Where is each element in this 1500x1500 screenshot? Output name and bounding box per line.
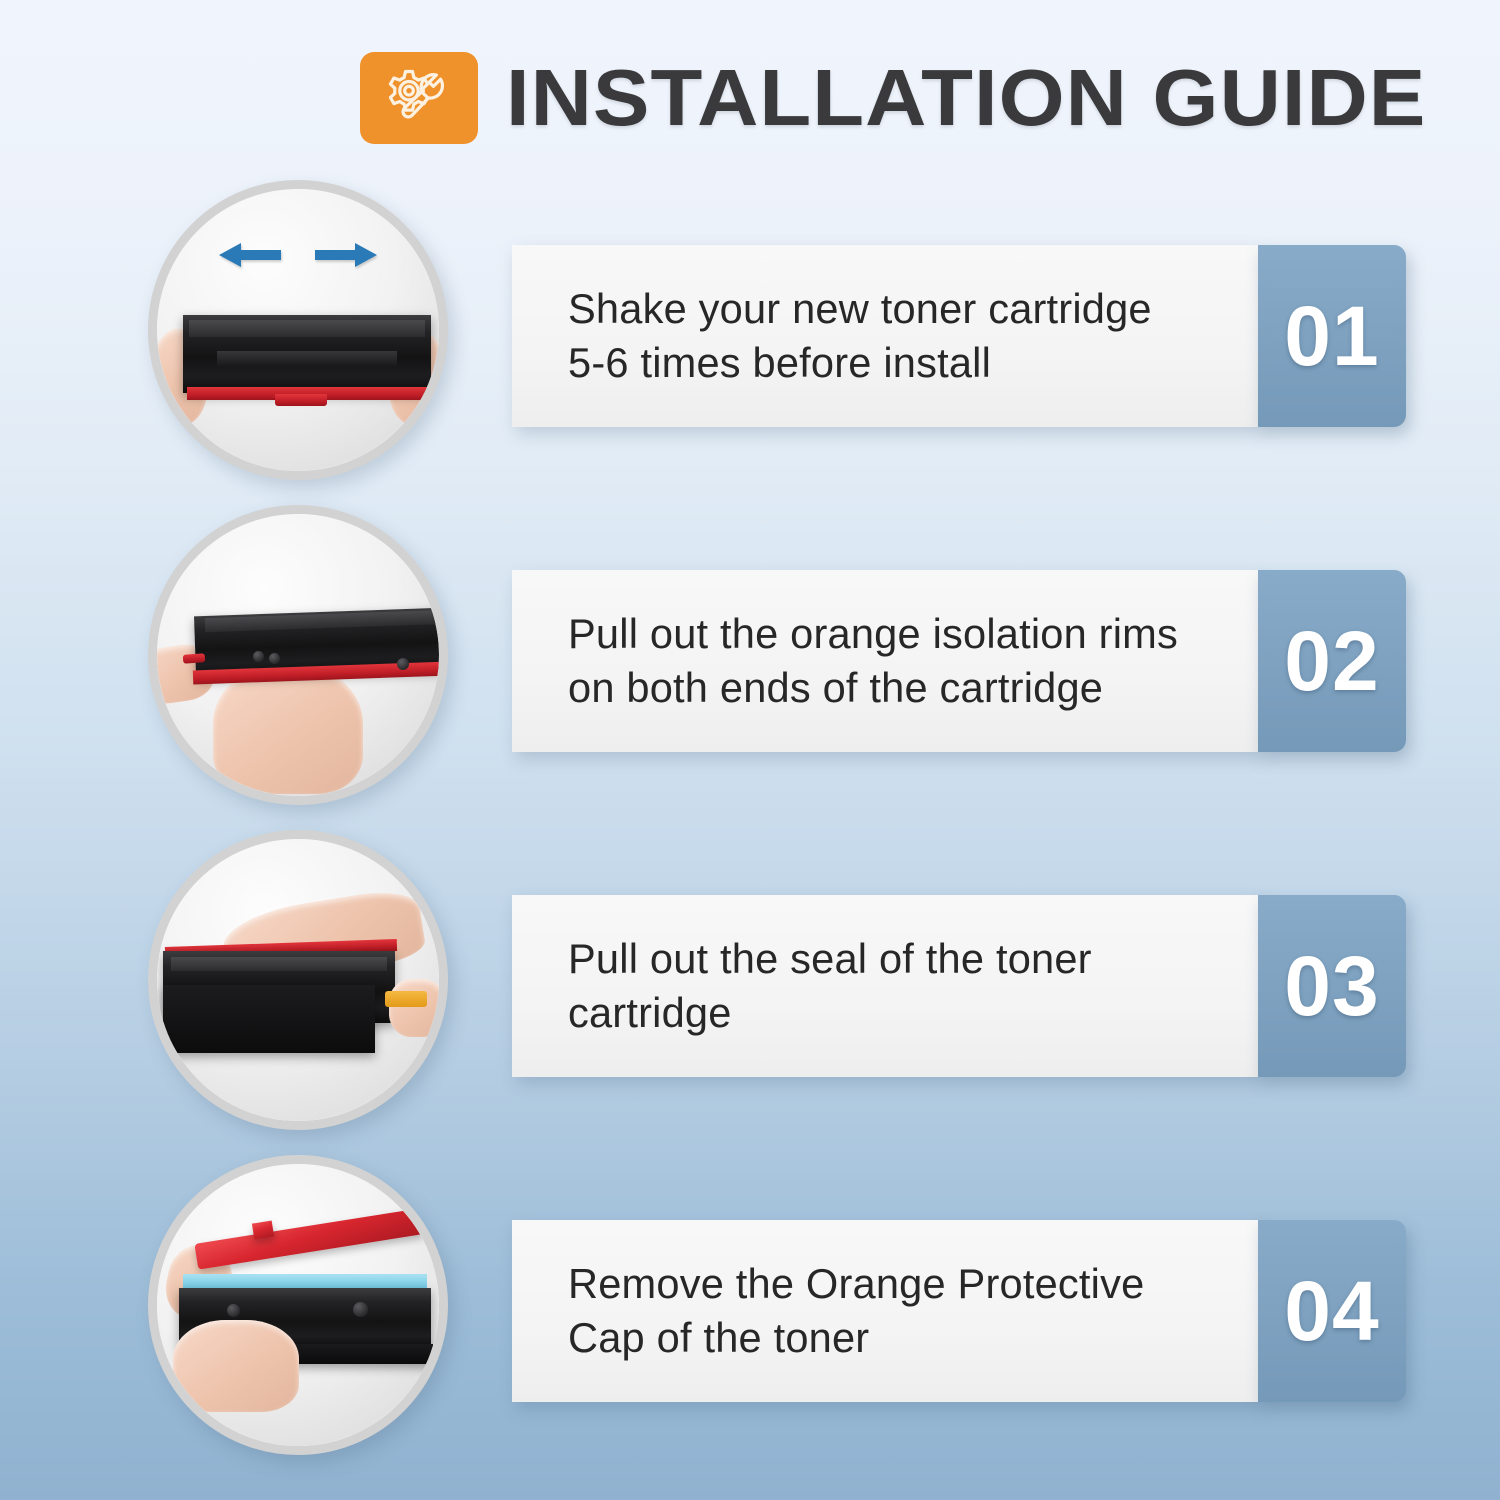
shake-arrows <box>157 241 439 269</box>
toner-detail-dot <box>397 658 409 670</box>
toner-cartridge-shake-photo <box>157 189 439 471</box>
installation-guide-page: INSTALLATION GUIDE <box>0 0 1500 1500</box>
red-rim-tab <box>183 653 206 664</box>
page-header: INSTALLATION GUIDE <box>360 52 1374 144</box>
toner-body-lower <box>163 985 375 1053</box>
page-title: INSTALLATION GUIDE <box>506 58 1426 138</box>
toner-cartridge-remove-cap-photo <box>157 1164 439 1446</box>
step-item: Remove the Orange Protective Cap of the … <box>0 1155 1500 1485</box>
step-item: Pull out the seal of the toner cartridge… <box>0 830 1500 1160</box>
step-number: 01 <box>1284 294 1379 378</box>
step-number-badge: 03 <box>1258 895 1406 1077</box>
step-number: 02 <box>1284 619 1379 703</box>
step-text: Remove the Orange Protective Cap of the … <box>568 1257 1144 1365</box>
step-text-card: Pull out the orange isolation rims on bo… <box>512 570 1260 752</box>
step-image-circle <box>148 830 448 1130</box>
orange-seal-tab <box>385 991 427 1007</box>
toner-detail-dot <box>253 651 264 662</box>
step-number: 03 <box>1284 944 1379 1028</box>
hand-supporting <box>213 664 363 794</box>
step-text: Pull out the orange isolation rims on bo… <box>568 607 1178 715</box>
step-text-card: Shake your new toner cartridge 5-6 times… <box>512 245 1260 427</box>
step-image-circle <box>148 180 448 480</box>
step-text-card: Remove the Orange Protective Cap of the … <box>512 1220 1260 1402</box>
arrow-left-icon <box>219 241 281 269</box>
step-item: Pull out the orange isolation rims on bo… <box>0 505 1500 835</box>
toner-cartridge-pull-seal-photo <box>157 839 439 1121</box>
hand-supporting <box>173 1320 299 1412</box>
toner-detail-dot <box>353 1302 368 1317</box>
step-image-circle <box>148 505 448 805</box>
step-number-badge: 01 <box>1258 245 1406 427</box>
step-image-circle <box>148 1155 448 1455</box>
step-number-badge: 04 <box>1258 1220 1406 1402</box>
red-cap-nub <box>252 1221 274 1240</box>
toner-detail-dot <box>269 653 280 664</box>
step-text: Shake your new toner cartridge 5-6 times… <box>568 282 1152 390</box>
toner-mid-strip <box>217 351 397 367</box>
step-item: Shake your new toner cartridge 5-6 times… <box>0 180 1500 510</box>
toner-detail-dot <box>227 1304 240 1317</box>
step-number: 04 <box>1284 1269 1379 1353</box>
step-text-card: Pull out the seal of the toner cartridge <box>512 895 1260 1077</box>
hand-pulling-seal <box>389 979 439 1037</box>
toner-top-strip <box>171 957 387 971</box>
step-text: Pull out the seal of the toner cartridge <box>568 932 1092 1040</box>
gear-wrench-icon <box>360 52 478 144</box>
red-protective-cap <box>194 1208 423 1269</box>
arrow-right-icon <box>315 241 377 269</box>
step-number-badge: 02 <box>1258 570 1406 752</box>
toner-cartridge-pull-rims-photo <box>157 514 439 796</box>
red-tab <box>275 394 327 406</box>
toner-top-strip <box>189 320 425 337</box>
